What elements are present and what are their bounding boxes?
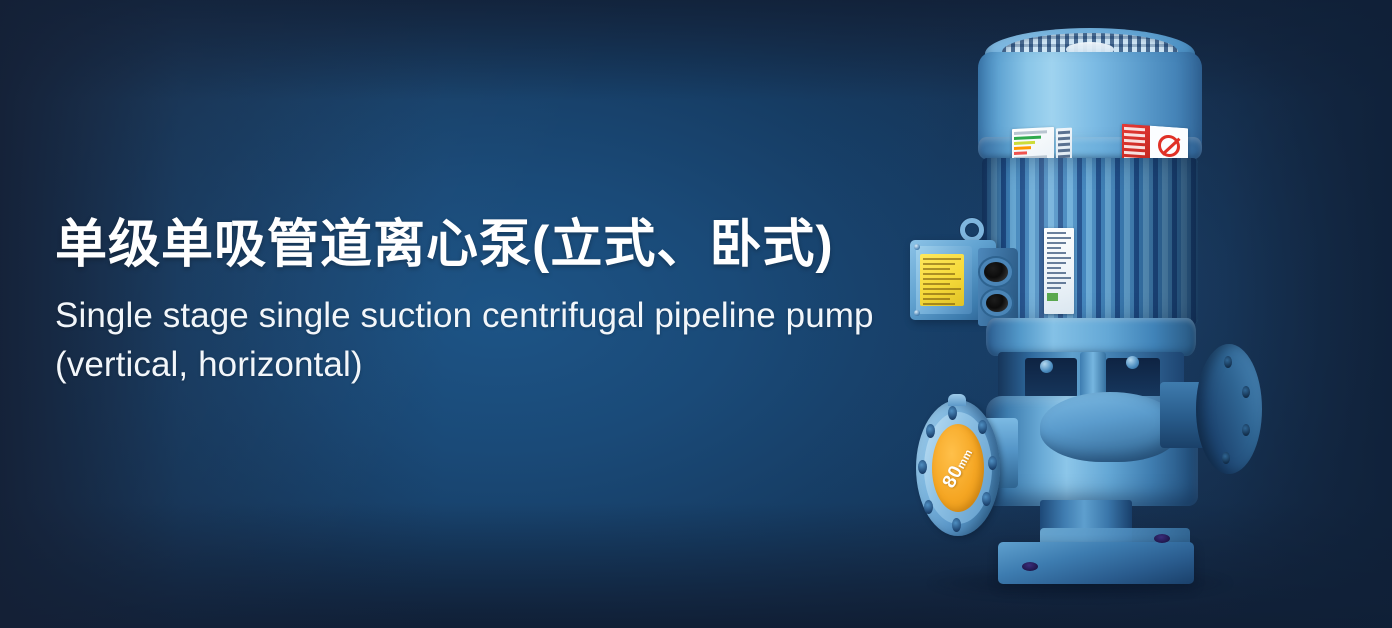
- banner-text-block: 单级单吸管道离心泵(立式、卧式) Single stage single suc…: [55, 215, 885, 389]
- cable-gland-icon: [984, 262, 1008, 282]
- nameplate-green-mark: [1047, 293, 1058, 301]
- suction-flange-bolt-hole: [926, 424, 935, 438]
- motor-nameplate-label: [1044, 228, 1074, 314]
- pump-product-image: 80mm: [890, 0, 1310, 628]
- flange-size-badge: 80mm: [932, 424, 984, 512]
- suction-flange-bolt-hole: [952, 518, 961, 532]
- energy-label-bar-green: [1014, 136, 1041, 140]
- lifting-eye-bolt-icon: [960, 218, 984, 242]
- flange-size-badge-text: 80mm: [938, 444, 977, 492]
- discharge-flange-bolt-hole: [1222, 452, 1230, 464]
- suction-flange-bolt-hole: [924, 500, 933, 514]
- discharge-flange-bolt-hole: [1224, 356, 1232, 368]
- page-title-chinese: 单级单吸管道离心泵(立式、卧式): [55, 215, 885, 276]
- flange-size-unit: mm: [955, 447, 975, 471]
- suction-flange-bolt-hole: [978, 420, 987, 434]
- energy-label-bar-orange: [1014, 146, 1031, 150]
- suction-flange-lug: [948, 394, 966, 406]
- baseplate-bolt-hole: [1022, 562, 1038, 571]
- motor-mounting-flange: [986, 318, 1196, 356]
- coupling-bolt: [1040, 360, 1053, 373]
- energy-label-bar-red: [1014, 151, 1027, 155]
- junction-box-wiring-label: [920, 254, 964, 306]
- baseplate-bolt-hole: [1154, 534, 1170, 543]
- cable-gland-icon: [986, 294, 1008, 312]
- junction-box-screw: [914, 310, 920, 316]
- suction-flange-bolt-hole: [948, 406, 957, 420]
- suction-flange-bolt-hole: [982, 492, 991, 506]
- junction-box-side-face: [978, 248, 1018, 326]
- discharge-flange-bolt-hole: [1242, 424, 1250, 436]
- product-banner: 单级单吸管道离心泵(立式、卧式) Single stage single suc…: [0, 0, 1392, 628]
- volute-scroll-dome: [1040, 392, 1180, 462]
- energy-label-bar-yellow: [1014, 141, 1035, 145]
- suction-flange-bolt-hole: [988, 456, 997, 470]
- page-subtitle-english: Single stage single suction centrifugal …: [55, 292, 885, 389]
- no-entry-prohibition-icon: [1158, 134, 1180, 158]
- junction-box-screw: [914, 244, 920, 250]
- energy-label-line: [1014, 130, 1047, 135]
- discharge-flange-bolt-hole: [1242, 386, 1250, 398]
- coupling-bolt: [1126, 356, 1139, 369]
- suction-flange-bolt-hole: [918, 460, 927, 474]
